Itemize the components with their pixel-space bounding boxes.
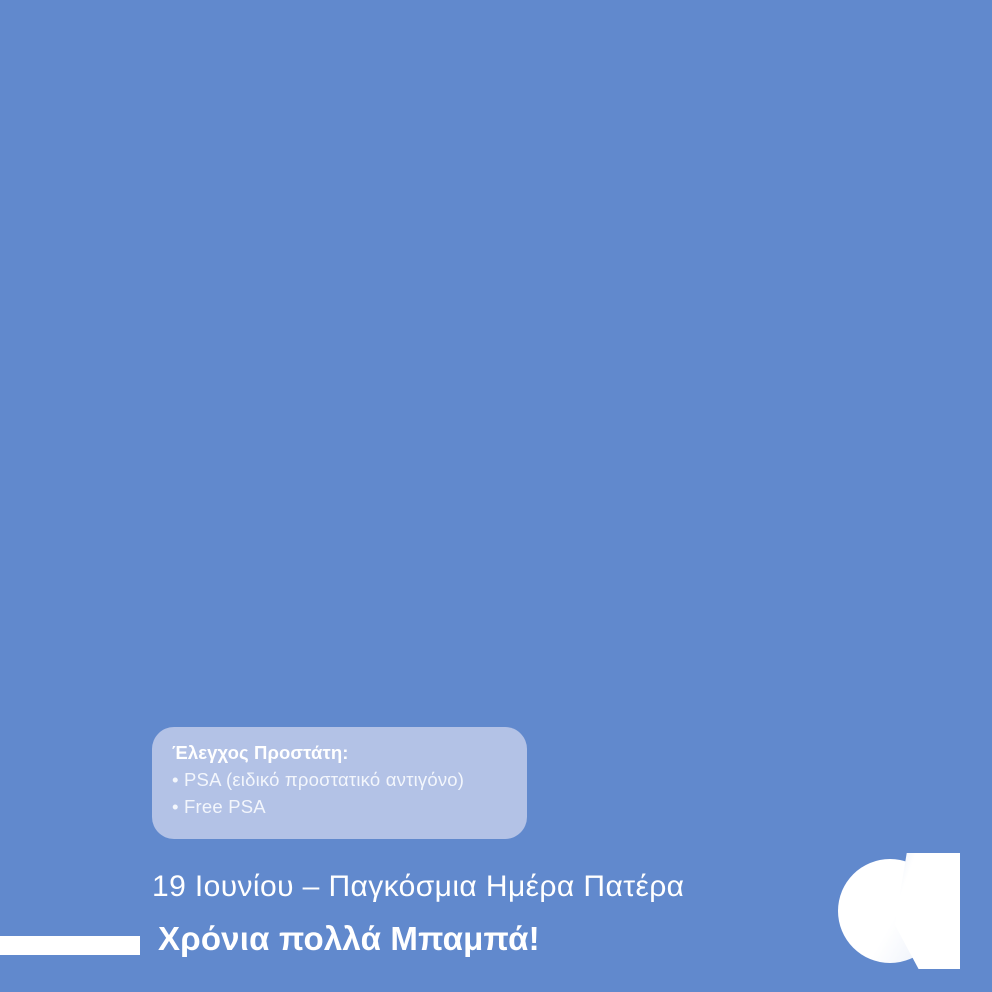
son-jeans-inseam	[384, 564, 391, 624]
card-list-item: • Free PSA	[172, 793, 507, 820]
son-ear	[404, 376, 417, 393]
father-plaid-shirt	[504, 210, 629, 424]
prostate-screening-card: Έλεγχος Προστάτη: • PSA (ειδικό προστατι…	[152, 727, 527, 839]
road-dash	[397, 650, 466, 666]
red-toy-airplane-icon	[236, 352, 366, 452]
rule-divider	[0, 936, 140, 955]
hero-photo	[0, 0, 992, 992]
greeting-line: Χρόνια πολλά Μπαμπά!	[158, 920, 858, 958]
father-jeans-pocket	[525, 421, 565, 453]
father-figure	[470, 150, 750, 640]
card-title: Έλεγχος Προστάτη:	[172, 741, 507, 766]
poster-canvas: Έλεγχος Προστάτη: • PSA (ειδικό προστατι…	[0, 0, 992, 992]
alpha-mark-logo-icon	[838, 853, 962, 973]
card-list-item: • PSA (ειδικό προστατικό αντιγόνο)	[172, 766, 507, 793]
photo-ellipse-mask	[0, 0, 992, 992]
date-line: 19 Ιουνίου – Παγκόσμια Ημέρα Πατέρα	[152, 870, 852, 904]
son-shoe-left	[340, 602, 381, 629]
